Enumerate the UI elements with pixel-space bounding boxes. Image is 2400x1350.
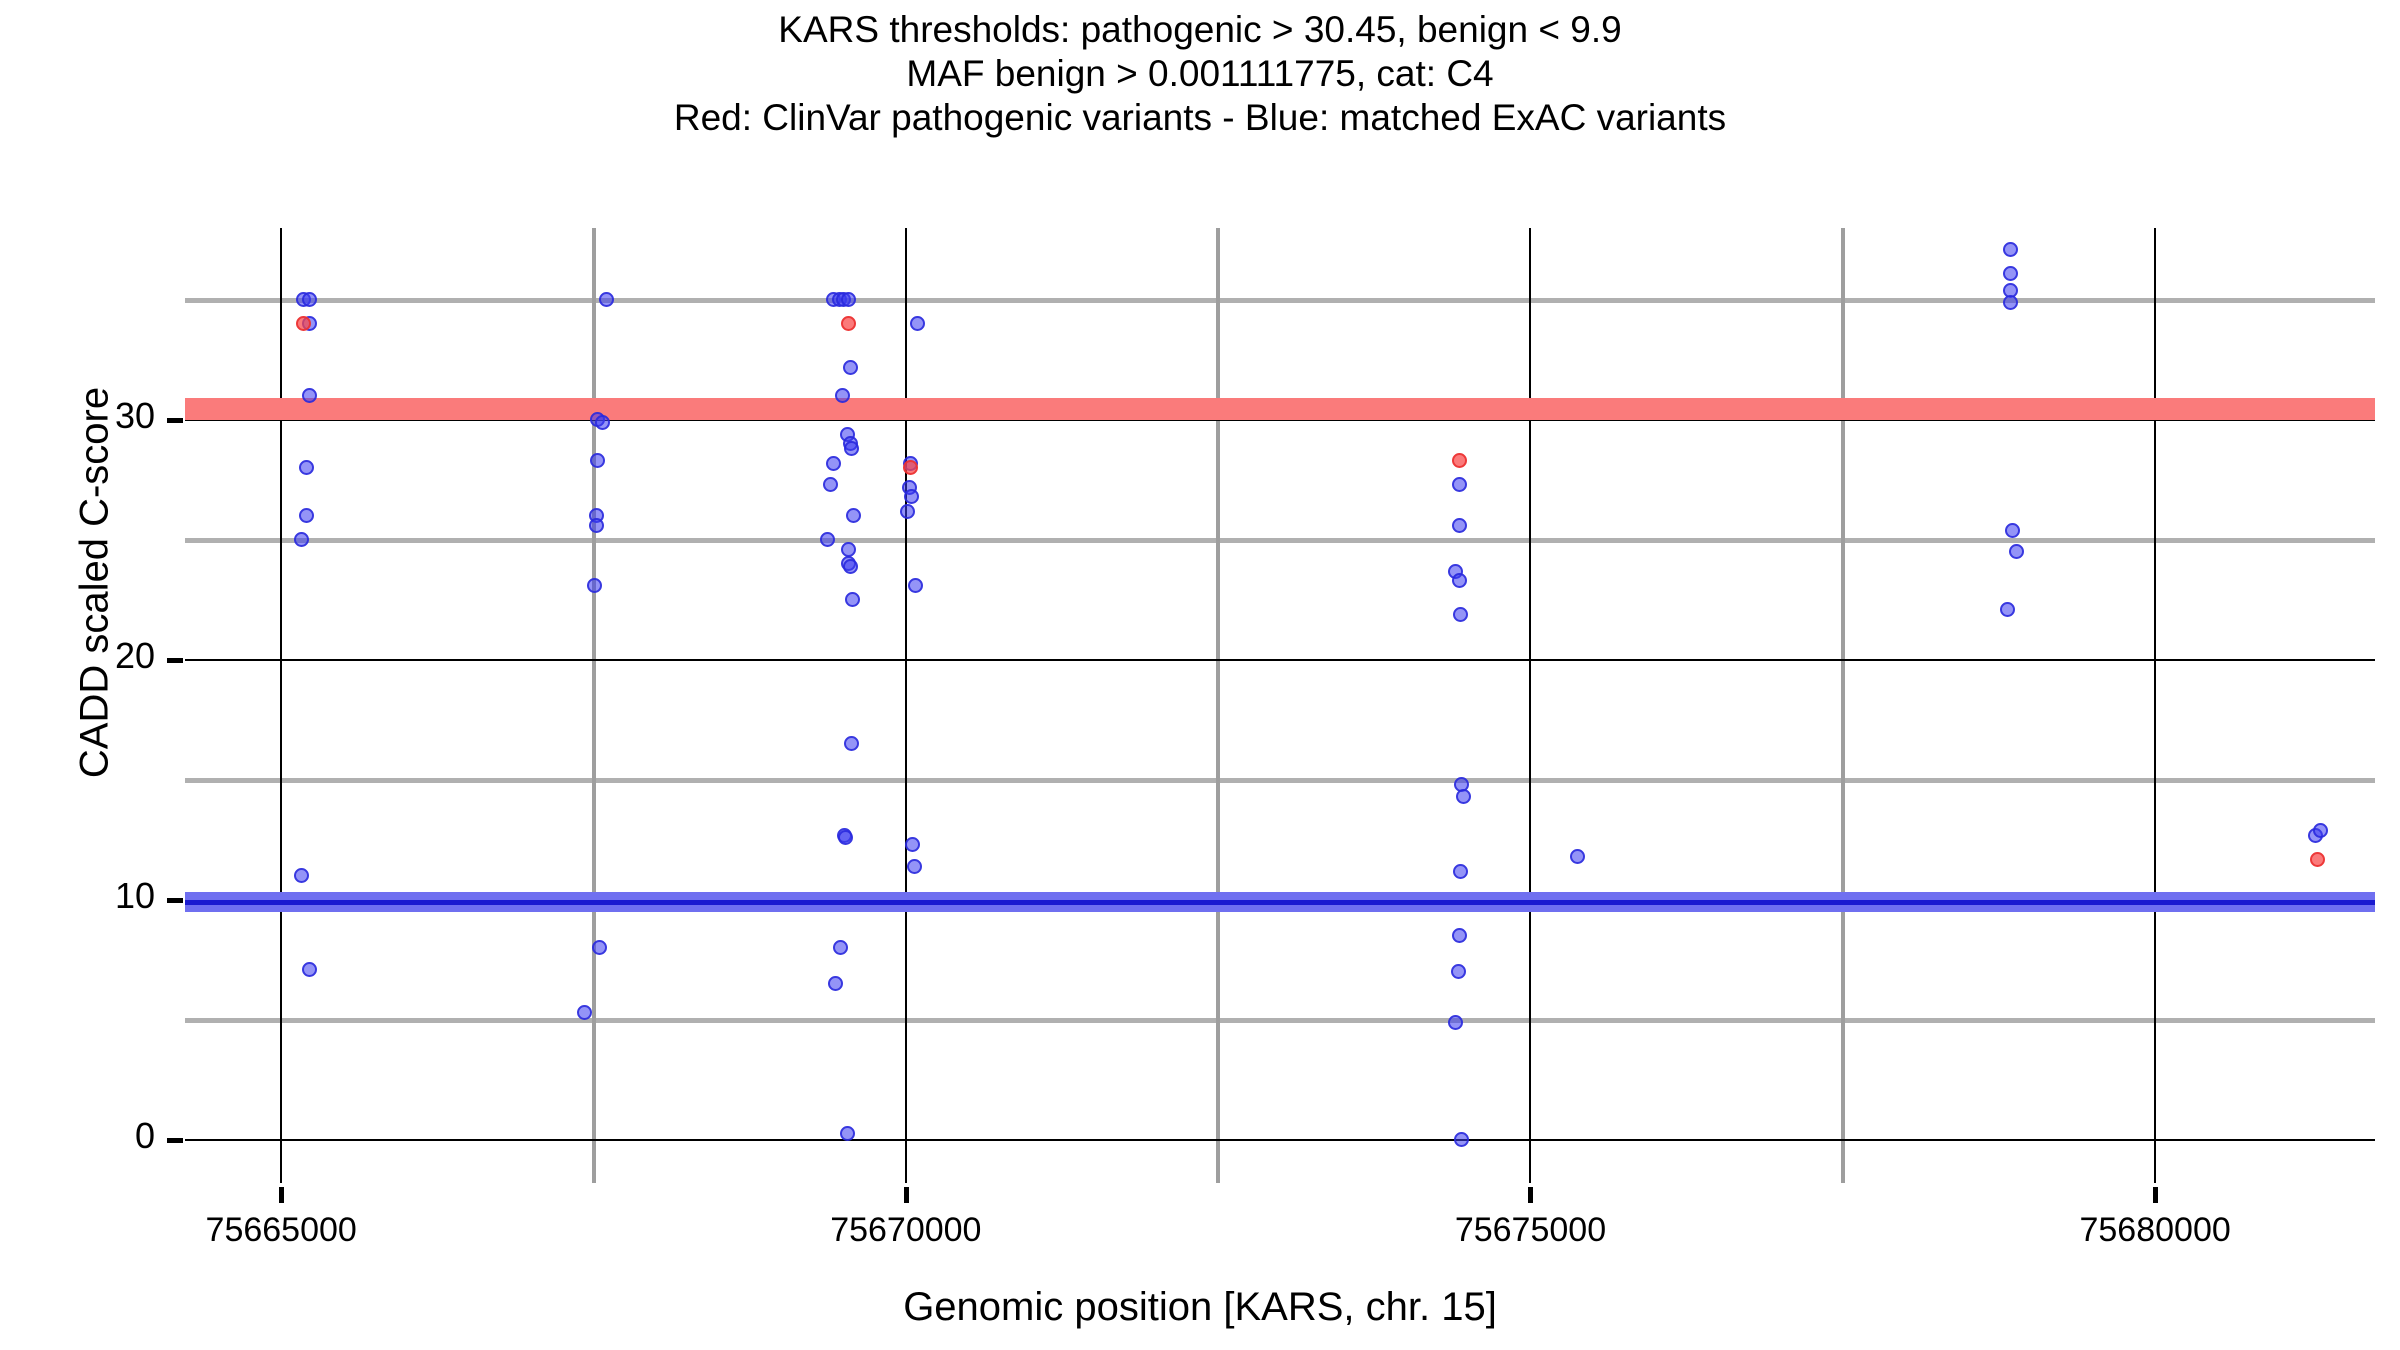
gridline-horizontal-major: [185, 659, 2375, 661]
gridline-vertical-major: [2154, 228, 2156, 1183]
data-point-exac: [910, 316, 925, 331]
scatter-plot-figure: KARS thresholds: pathogenic > 30.45, ben…: [0, 0, 2400, 1350]
data-point-exac: [1570, 849, 1585, 864]
data-point-exac: [838, 830, 853, 845]
chart-title: KARS thresholds: pathogenic > 30.45, ben…: [0, 8, 2400, 140]
y-tick-label: 10: [0, 875, 155, 917]
data-point-exac: [904, 489, 919, 504]
data-point-exac: [587, 578, 602, 593]
data-point-exac: [905, 837, 920, 852]
data-point-exac: [845, 592, 860, 607]
gridline-vertical-minor: [1216, 228, 1220, 1183]
benign-threshold-line: [185, 900, 2375, 905]
data-point-exac: [841, 292, 856, 307]
data-point-exac: [302, 962, 317, 977]
data-point-exac: [900, 504, 915, 519]
data-point-exac: [843, 360, 858, 375]
data-point-exac: [2003, 266, 2018, 281]
gridline-horizontal-minor: [185, 298, 2375, 303]
y-tick-label: 30: [0, 395, 155, 437]
data-point-exac: [299, 508, 314, 523]
data-point-exac: [2009, 544, 2024, 559]
data-point-exac: [589, 518, 604, 533]
x-tick-mark: [279, 1187, 284, 1203]
data-point-exac: [294, 532, 309, 547]
y-tick-mark: [167, 658, 183, 663]
data-point-exac: [844, 441, 859, 456]
gridline-vertical-minor: [1841, 228, 1845, 1183]
x-axis-label: Genomic position [KARS, chr. 15]: [0, 1285, 2400, 1330]
gridline-vertical-major: [1529, 228, 1531, 1183]
data-point-exac: [302, 292, 317, 307]
y-axis-label: CADD scaled C-score: [73, 233, 118, 933]
data-point-exac: [840, 1126, 855, 1141]
y-tick-mark: [167, 898, 183, 903]
plot-area: [185, 228, 2375, 1183]
data-point-exac: [1452, 477, 1467, 492]
gridline-horizontal-major: [185, 1139, 2375, 1141]
data-point-exac: [841, 542, 856, 557]
title-line-3: Red: ClinVar pathogenic variants - Blue:…: [0, 96, 2400, 140]
data-point-exac: [907, 859, 922, 874]
data-point-pathogenic: [903, 460, 918, 475]
y-tick-mark: [167, 1138, 183, 1143]
data-point-exac: [1453, 607, 1468, 622]
data-point-exac: [590, 453, 605, 468]
data-point-exac: [844, 736, 859, 751]
title-line-1: KARS thresholds: pathogenic > 30.45, ben…: [0, 8, 2400, 52]
data-point-exac: [599, 292, 614, 307]
data-point-exac: [1448, 1015, 1463, 1030]
data-point-pathogenic: [2310, 852, 2325, 867]
data-point-exac: [908, 578, 923, 593]
data-point-exac: [823, 477, 838, 492]
gridline-vertical-minor: [592, 228, 596, 1183]
data-point-exac: [1454, 1132, 1469, 1147]
data-point-exac: [1456, 789, 1471, 804]
gridline-vertical-major: [280, 228, 282, 1183]
x-tick-label: 75665000: [121, 1211, 441, 1250]
x-tick-mark: [1528, 1187, 1533, 1203]
data-point-exac: [835, 388, 850, 403]
data-point-exac: [595, 415, 610, 430]
pathogenic-threshold-band: [185, 398, 2375, 420]
data-point-exac: [1452, 928, 1467, 943]
data-point-exac: [294, 868, 309, 883]
data-point-exac: [1452, 573, 1467, 588]
data-point-exac: [2000, 602, 2015, 617]
x-tick-mark: [904, 1187, 909, 1203]
x-tick-mark: [2153, 1187, 2158, 1203]
data-point-pathogenic: [841, 316, 856, 331]
data-point-exac: [846, 508, 861, 523]
gridline-vertical-major: [905, 228, 907, 1183]
gridline-horizontal-minor: [185, 778, 2375, 783]
data-point-exac: [2003, 295, 2018, 310]
data-point-exac: [2003, 242, 2018, 257]
data-point-exac: [299, 460, 314, 475]
x-tick-label: 75680000: [1995, 1211, 2315, 1250]
data-point-exac: [820, 532, 835, 547]
data-point-pathogenic: [1452, 453, 1467, 468]
y-tick-mark: [167, 418, 183, 423]
title-line-2: MAF benign > 0.001111775, cat: C4: [0, 52, 2400, 96]
data-point-exac: [592, 940, 607, 955]
data-point-exac: [826, 456, 841, 471]
data-point-exac: [1451, 964, 1466, 979]
gridline-horizontal-minor: [185, 538, 2375, 543]
gridline-horizontal-minor: [185, 1018, 2375, 1023]
data-point-exac: [2005, 523, 2020, 538]
data-point-exac: [1452, 518, 1467, 533]
data-point-exac: [2313, 823, 2328, 838]
data-point-exac: [843, 559, 858, 574]
y-tick-label: 0: [0, 1115, 155, 1157]
x-tick-label: 75675000: [1370, 1211, 1690, 1250]
data-point-exac: [1453, 864, 1468, 879]
data-point-exac: [833, 940, 848, 955]
y-tick-label: 20: [0, 635, 155, 677]
x-tick-label: 75670000: [746, 1211, 1066, 1250]
data-point-exac: [828, 976, 843, 991]
